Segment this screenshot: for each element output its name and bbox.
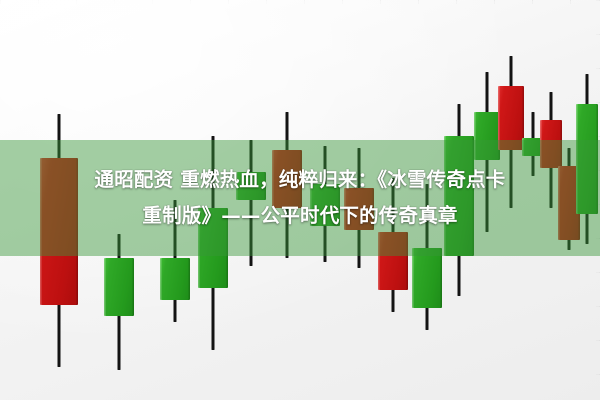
candle-body-6 xyxy=(310,184,340,226)
candle-body-4 xyxy=(236,172,266,200)
candle-2 xyxy=(160,0,190,400)
candle-body-8 xyxy=(378,232,408,290)
candlestick-banner: 通昭配资 重燃热血，纯粹归来：《冰雪传奇点卡 重制版》——公平时代下的传奇真章 xyxy=(0,0,600,400)
candle-body-1 xyxy=(104,258,134,316)
candlestick-plot xyxy=(0,0,600,400)
candle-body-11 xyxy=(474,112,500,160)
candle-16 xyxy=(576,0,598,400)
candle-body-2 xyxy=(160,258,190,300)
candle-8 xyxy=(378,0,408,400)
candle-4 xyxy=(236,0,266,400)
candle-body-10 xyxy=(444,136,474,256)
candle-9 xyxy=(412,0,442,400)
candle-10 xyxy=(444,0,474,400)
candle-5 xyxy=(272,0,302,400)
candle-1 xyxy=(104,0,134,400)
candle-12 xyxy=(498,0,524,400)
candle-body-16 xyxy=(576,104,598,214)
candle-6 xyxy=(310,0,340,400)
candle-body-3 xyxy=(198,208,228,288)
candle-3 xyxy=(198,0,228,400)
candle-body-9 xyxy=(412,248,442,308)
candle-0 xyxy=(40,0,78,400)
candle-7 xyxy=(344,0,374,400)
candle-body-5 xyxy=(272,150,302,208)
candle-body-12 xyxy=(498,86,524,150)
candle-body-7 xyxy=(344,188,374,230)
candle-11 xyxy=(474,0,500,400)
candle-wick-4 xyxy=(250,140,253,266)
candle-body-0 xyxy=(40,158,78,305)
